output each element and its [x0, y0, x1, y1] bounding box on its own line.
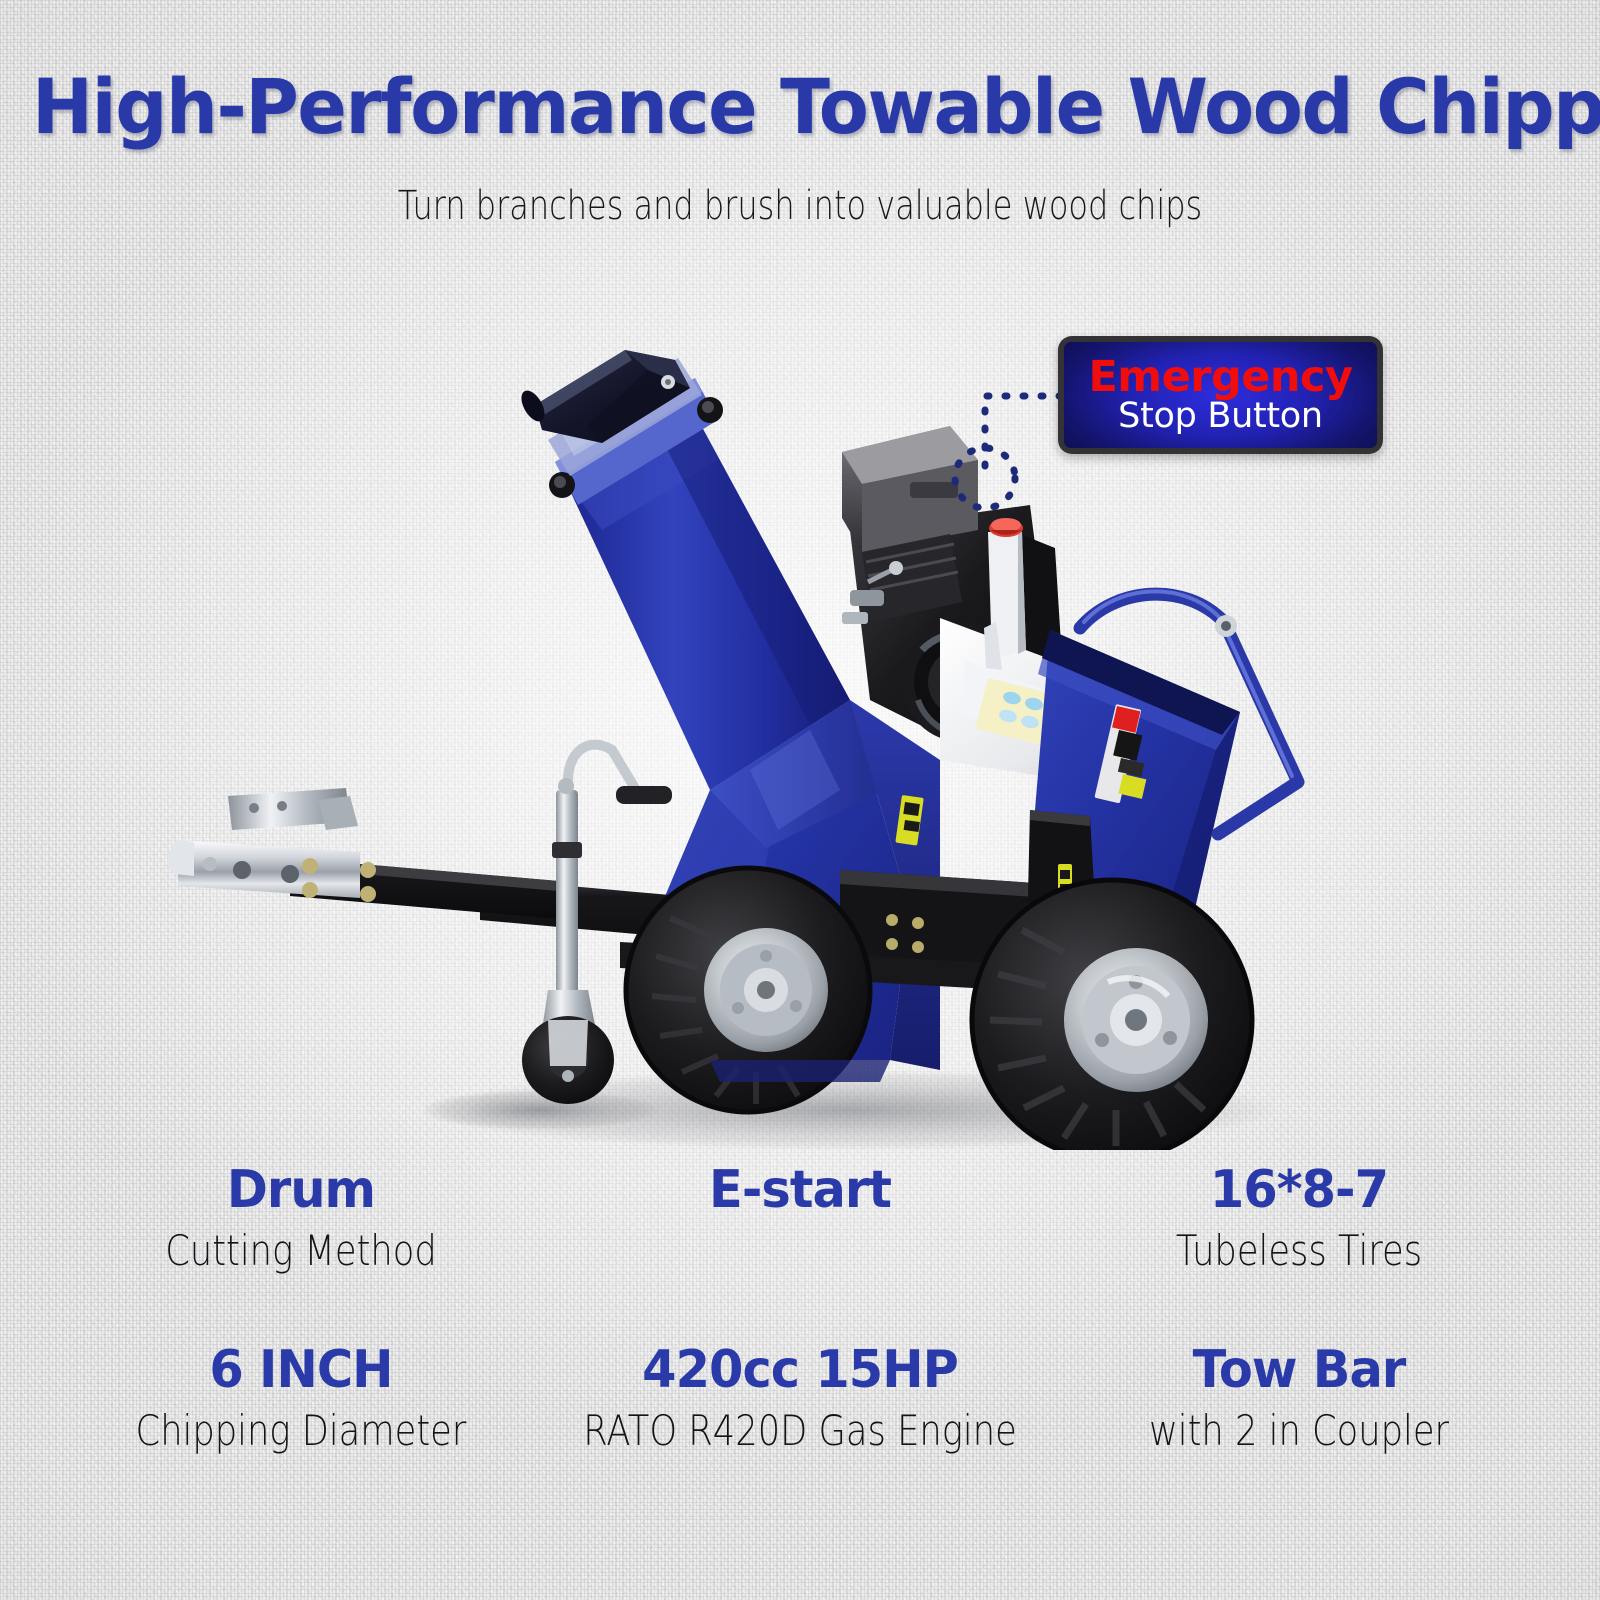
feature-chipping-diameter: 6 INCH Chipping Diameter [60, 1340, 542, 1520]
callout-subtitle: Stop Button [1118, 398, 1323, 435]
feature-title: Tow Bar [1070, 1340, 1528, 1400]
feature-drum: Drum Cutting Method [60, 1160, 542, 1340]
emergency-stop-post [984, 518, 1026, 670]
feature-tow-bar: Tow Bar with 2 in Coupler [1058, 1340, 1540, 1520]
infographic-page: High-Performance Towable Wood Chipper Tu… [0, 0, 1600, 1600]
discharge-chute [517, 350, 850, 790]
feature-title: 420cc 15HP [555, 1340, 1045, 1400]
callout-inner-panel: Emergency Stop Button [1064, 342, 1377, 448]
caster-shadow [420, 1090, 660, 1130]
callout-title: Emergency [1088, 356, 1352, 398]
air-filter-box [842, 426, 978, 552]
feature-subtitle: Chipping Diameter [99, 1406, 504, 1455]
feature-title: 6 INCH [72, 1340, 530, 1400]
feature-title: E-start [555, 1160, 1045, 1220]
feature-grid: Drum Cutting Method E-start 16*8-7 Tubel… [60, 1160, 1540, 1520]
page-subtitle: Turn branches and brush into valuable wo… [160, 183, 1440, 229]
page-title: High-Performance Towable Wood Chipper [32, 62, 1568, 151]
feature-title: 16*8-7 [1070, 1160, 1528, 1220]
coupler-2in [168, 788, 360, 898]
right-tire-assembly [972, 880, 1252, 1150]
feature-e-start: E-start [542, 1160, 1058, 1340]
emergency-stop-callout: Emergency Stop Button [1058, 336, 1383, 454]
feature-engine: 420cc 15HP RATO R420D Gas Engine [542, 1340, 1058, 1520]
feature-subtitle: RATO R420D Gas Engine [583, 1406, 1016, 1455]
feed-hopper [940, 518, 1298, 930]
feature-subtitle: Tubeless Tires [1097, 1226, 1502, 1275]
feature-title: Drum [72, 1160, 530, 1220]
feature-tires: 16*8-7 Tubeless Tires [1058, 1160, 1540, 1340]
feature-subtitle: with 2 in Coupler [1097, 1406, 1502, 1455]
feature-subtitle: Cutting Method [99, 1226, 504, 1275]
